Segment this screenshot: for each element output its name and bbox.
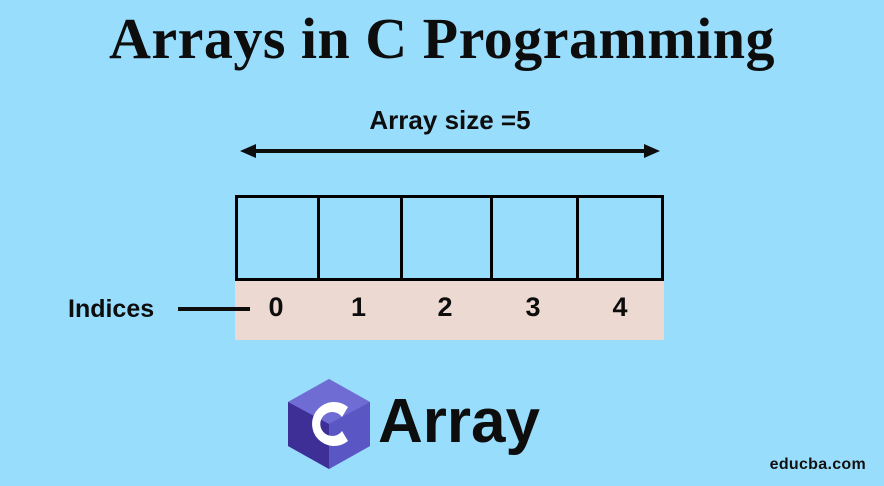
array-cells-grid [235,195,664,281]
array-cell-3[interactable] [493,198,579,278]
array-cell-2[interactable] [403,198,493,278]
array-cell-1[interactable] [320,198,403,278]
index-label-1: 1 [317,281,400,340]
array-cell-0[interactable] [238,198,320,278]
index-label-4: 4 [576,281,664,340]
index-label-2: 2 [400,281,490,340]
indices-leader-line [178,307,250,311]
index-label-3: 3 [490,281,576,340]
page-title: Arrays in C Programming [0,4,884,74]
infographic-canvas: Arrays in C Programming Array size =5 0 … [0,0,884,486]
array-cell-4[interactable] [579,198,661,278]
site-watermark: educba.com [770,456,866,474]
double-headed-arrow-icon [236,138,664,164]
c-array-logo: Array [286,378,540,470]
c-language-hexagon-logo-icon [286,378,372,470]
indices-caption: Indices [68,294,154,324]
array-size-label: Array size =5 [242,104,658,136]
logo-wordmark: Array [378,391,540,453]
indices-band: 0 1 2 3 4 [235,281,664,340]
